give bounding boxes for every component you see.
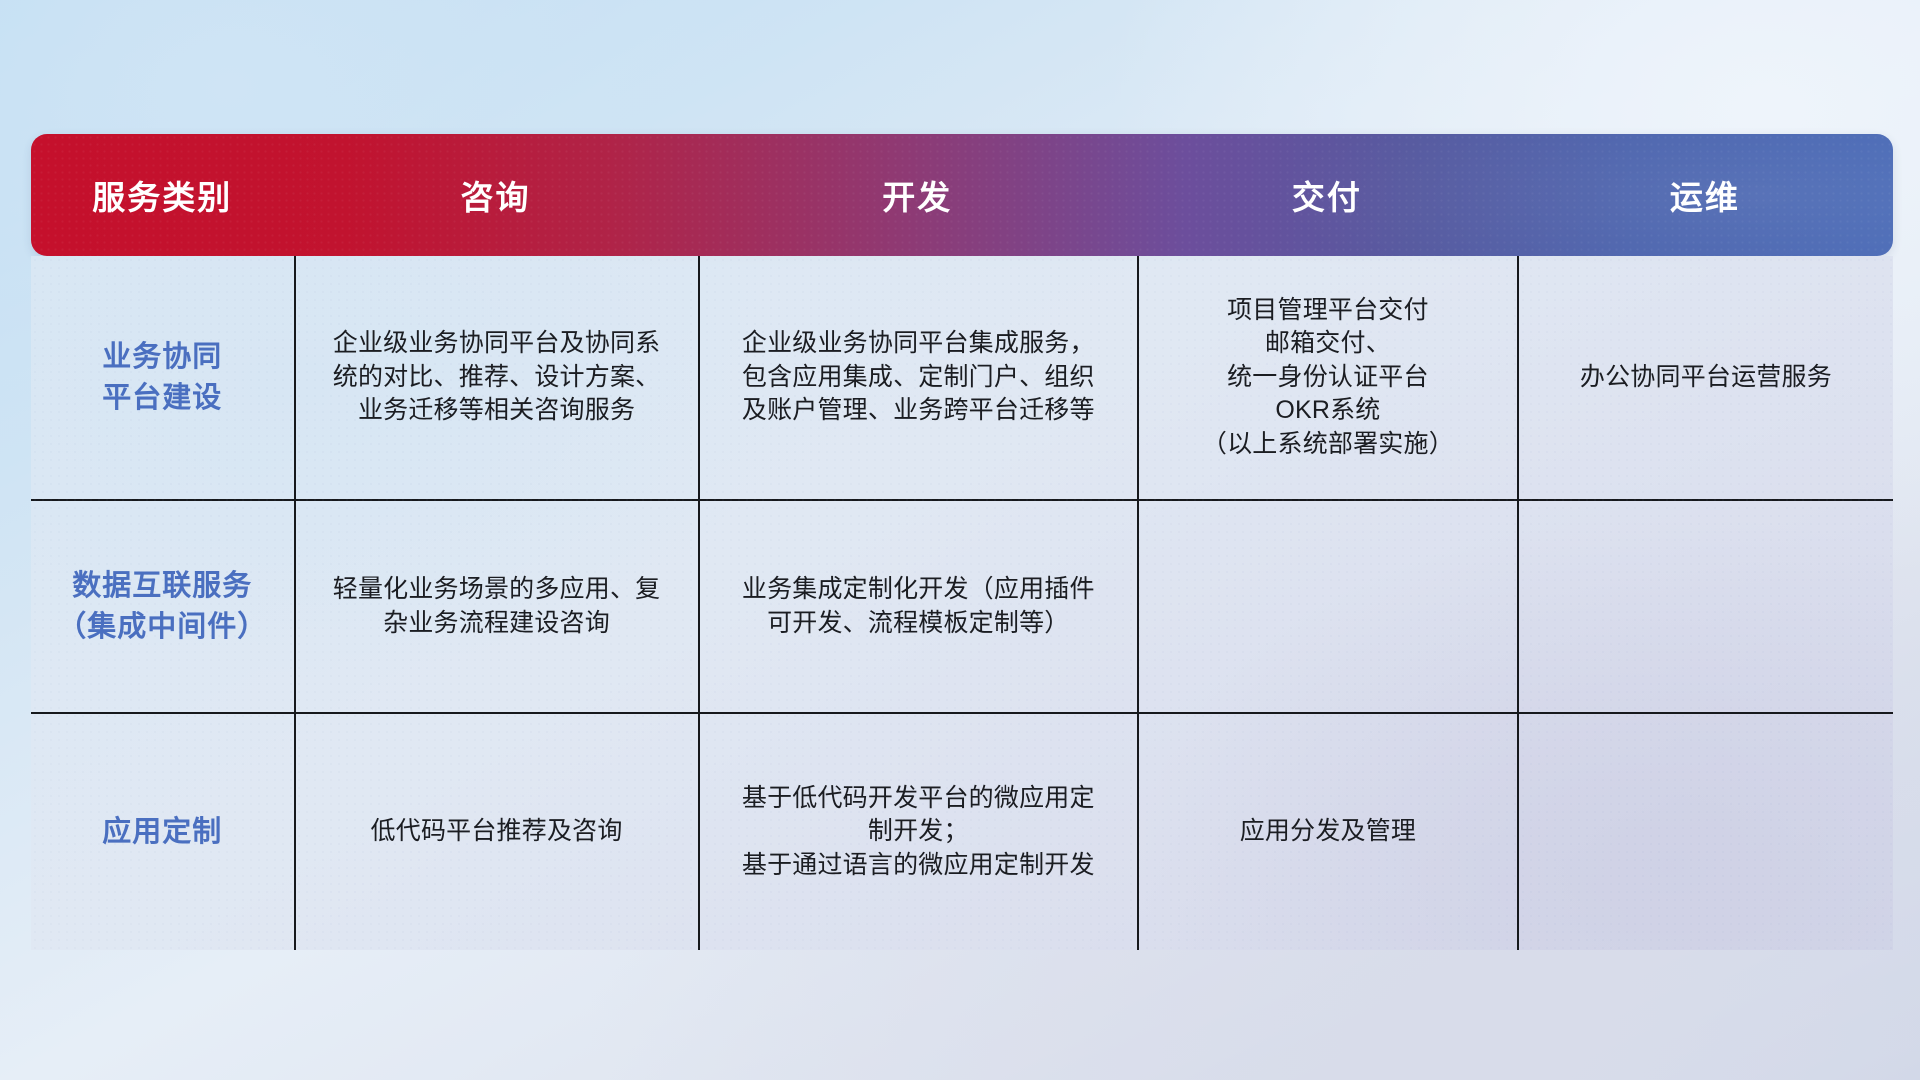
cell-development: 企业级业务协同平台集成服务， 包含应用集成、定制门户、组织 及账户管理、业务跨平… (698, 256, 1137, 499)
cell-text: 应用分发及管理 (1240, 815, 1416, 849)
cell-development: 业务集成定制化开发（应用插件 可开发、流程模板定制等） (698, 501, 1137, 712)
column-header-delivery[interactable]: 交付 (1137, 171, 1517, 219)
cell-text: 轻量化业务场景的多应用、复 杂业务流程建设咨询 (333, 573, 661, 640)
cell-text: 项目管理平台交付 邮箱交付、 统一身份认证平台 OKR系统 （以上系统部署实施） (1202, 294, 1454, 462)
service-matrix-table: 服务类别 咨询 开发 交付 运维 业务协同 平台建设 企业级业务协同平台及协同系… (31, 134, 1893, 950)
cell-text: 业务集成定制化开发（应用插件 可开发、流程模板定制等） (742, 573, 1095, 640)
cell-text: 企业级业务协同平台集成服务， 包含应用集成、定制门户、组织 及账户管理、业务跨平… (742, 327, 1095, 428)
cell-consulting: 低代码平台推荐及咨询 (294, 714, 698, 950)
cell-delivery: 项目管理平台交付 邮箱交付、 统一身份认证平台 OKR系统 （以上系统部署实施） (1137, 256, 1517, 499)
table-row: 业务协同 平台建设 企业级业务协同平台及协同系 统的对比、推荐、设计方案、 业务… (31, 256, 1893, 499)
column-header-consulting[interactable]: 咨询 (294, 171, 698, 219)
cell-category: 应用定制 (31, 714, 294, 950)
cell-category: 数据互联服务 （集成中间件） (31, 501, 294, 712)
cell-text: 企业级业务协同平台及协同系 统的对比、推荐、设计方案、 业务迁移等相关咨询服务 (333, 327, 661, 428)
column-header-operations[interactable]: 运维 (1517, 171, 1893, 219)
page-root: 服务类别 咨询 开发 交付 运维 业务协同 平台建设 企业级业务协同平台及协同系… (0, 0, 1920, 1080)
cell-operations: 办公协同平台运营服务 (1517, 256, 1893, 499)
column-header-development[interactable]: 开发 (698, 171, 1137, 219)
cell-text: 基于低代码开发平台的微应用定 制开发； 基于通过语言的微应用定制开发 (742, 782, 1095, 883)
table-row: 数据互联服务 （集成中间件） 轻量化业务场景的多应用、复 杂业务流程建设咨询 业… (31, 499, 1893, 712)
table-body: 业务协同 平台建设 企业级业务协同平台及协同系 统的对比、推荐、设计方案、 业务… (31, 256, 1893, 950)
cell-category: 业务协同 平台建设 (31, 256, 294, 499)
cell-development: 基于低代码开发平台的微应用定 制开发； 基于通过语言的微应用定制开发 (698, 714, 1137, 950)
cell-consulting: 轻量化业务场景的多应用、复 杂业务流程建设咨询 (294, 501, 698, 712)
category-label: 应用定制 (102, 812, 222, 852)
cell-delivery (1137, 501, 1517, 712)
slide-canvas: 服务类别 咨询 开发 交付 运维 业务协同 平台建设 企业级业务协同平台及协同系… (0, 0, 1920, 1080)
table-header-row: 服务类别 咨询 开发 交付 运维 (31, 134, 1893, 256)
table-row: 应用定制 低代码平台推荐及咨询 基于低代码开发平台的微应用定 制开发； 基于通过… (31, 712, 1893, 950)
cell-text: 办公协同平台运营服务 (1580, 361, 1832, 395)
cell-text: 低代码平台推荐及咨询 (371, 815, 623, 849)
cell-operations (1517, 501, 1893, 712)
category-label: 数据互联服务 （集成中间件） (57, 566, 267, 646)
column-header-category[interactable]: 服务类别 (31, 171, 294, 219)
cell-consulting: 企业级业务协同平台及协同系 统的对比、推荐、设计方案、 业务迁移等相关咨询服务 (294, 256, 698, 499)
category-label: 业务协同 平台建设 (102, 337, 222, 417)
cell-operations (1517, 714, 1893, 950)
cell-delivery: 应用分发及管理 (1137, 714, 1517, 950)
